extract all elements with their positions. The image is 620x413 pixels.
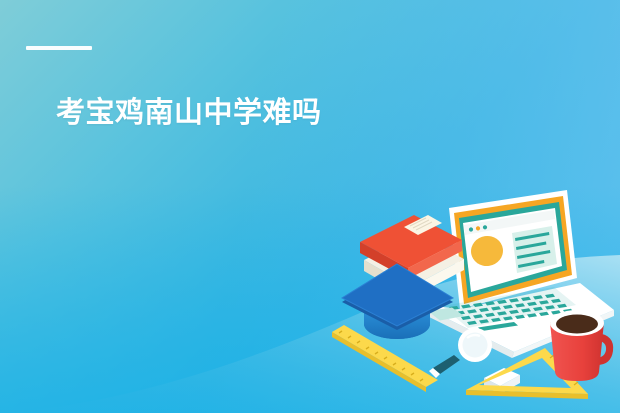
title-divider-rule — [26, 46, 92, 50]
page-title: 考宝鸡南山中学难吗 — [56, 96, 366, 131]
coffee-mug-icon — [550, 310, 613, 381]
article-cover-banner: 考宝鸡南山中学难吗 — [0, 0, 620, 413]
study-desk-illustration — [318, 178, 620, 413]
headline-block: 考宝鸡南山中学难吗 — [26, 46, 366, 131]
magnifying-glass-icon — [429, 328, 492, 378]
